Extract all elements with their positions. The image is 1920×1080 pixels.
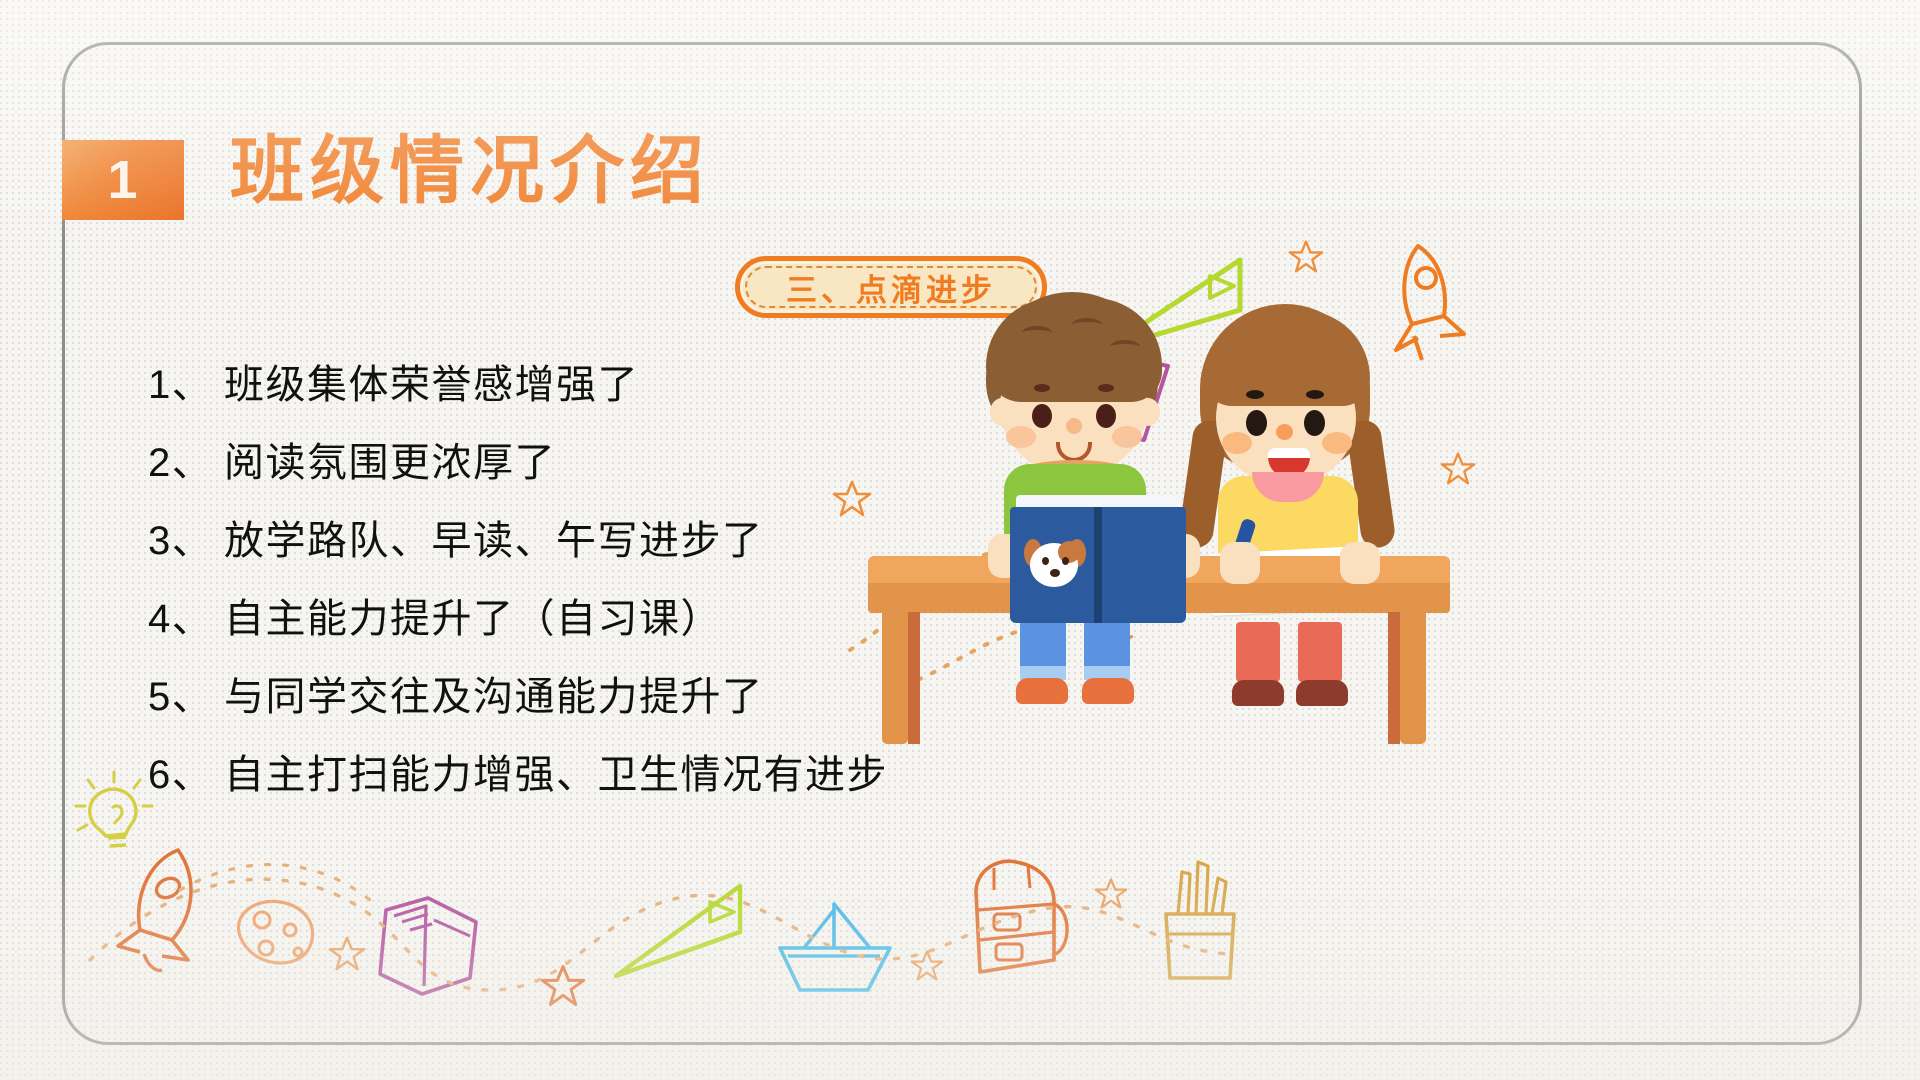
- section-number-badge: 1: [62, 140, 184, 220]
- dog-sticker-eye-right: [1062, 557, 1069, 565]
- star-doodle-icon: [328, 934, 366, 972]
- girl-nose: [1276, 424, 1293, 440]
- children-studying-illustration: [840, 250, 1500, 810]
- pencil-case-doodle-icon: [1140, 852, 1260, 992]
- list-item-text: 放学路队、早读、午写进步了: [224, 508, 764, 566]
- list-item-index: 6、: [148, 742, 224, 800]
- rocket-doodle-icon: [106, 840, 226, 980]
- list-item: 5、 与同学交往及沟通能力提升了: [148, 664, 948, 742]
- list-item-index: 5、: [148, 664, 224, 722]
- girl-eye-right: [1304, 410, 1325, 436]
- backpack-doodle-icon: [950, 848, 1080, 988]
- boy-nose: [1066, 418, 1082, 434]
- dashed-path-doodle-icon: [70, 830, 1860, 1020]
- book-spine: [1094, 507, 1102, 623]
- page-title: 班级情况介绍: [230, 130, 710, 211]
- list-item-text: 与同学交往及沟通能力提升了: [224, 664, 764, 722]
- dog-sticker-eye-left: [1042, 557, 1049, 565]
- list-item: 2、 阅读氛围更浓厚了: [148, 430, 948, 508]
- girl-eyebrow-right: [1306, 390, 1324, 399]
- paper-boat-doodle-icon: [770, 898, 900, 1008]
- desk-leg-left: [882, 612, 908, 744]
- boy-eyebrow-right: [1098, 384, 1114, 392]
- boy-eye-left: [1032, 404, 1052, 428]
- list-item: 4、 自主能力提升了（自习课）: [148, 586, 948, 664]
- boy-cheek-left: [1006, 426, 1036, 448]
- list-item-index: 2、: [148, 430, 224, 488]
- list-item: 3、 放学路队、早读、午写进步了: [148, 508, 948, 586]
- girl-cheek-right: [1322, 432, 1352, 454]
- desk-leg-shadow-left: [908, 612, 920, 744]
- bullet-list: 1、 班级集体荣誉感增强了 2、 阅读氛围更浓厚了 3、 放学路队、早读、午写进…: [148, 352, 948, 820]
- list-item-index: 3、: [148, 508, 224, 566]
- boy-legs: [1020, 610, 1130, 702]
- blue-storybook: [1010, 495, 1186, 623]
- list-item-text: 自主能力提升了（自习课）: [224, 586, 722, 644]
- list-item-text: 班级集体荣誉感增强了: [224, 352, 639, 410]
- girl-cheek-left: [1222, 432, 1252, 454]
- desk-leg-shadow-right: [1388, 612, 1400, 744]
- list-item: 6、 自主打扫能力增强、卫生情况有进步: [148, 742, 948, 820]
- lightbulb-doodle-icon: [70, 768, 160, 868]
- girl-eyebrow-left: [1246, 390, 1264, 399]
- triangle-ruler-icon: [600, 868, 750, 988]
- star-doodle-icon: [910, 948, 944, 982]
- dog-sticker-nose: [1050, 569, 1060, 577]
- desk-leg-right: [1400, 612, 1426, 744]
- star-doodle-icon: [1094, 876, 1128, 910]
- star-doodle-icon: [540, 962, 586, 1008]
- list-item: 1、 班级集体荣誉感增强了: [148, 352, 948, 430]
- list-item-index: 4、: [148, 586, 224, 644]
- girl-hair-front: [1204, 310, 1370, 406]
- star-doodle-icon: [1288, 238, 1324, 274]
- section-number-label: 1: [107, 153, 138, 207]
- boy-cheek-right: [1112, 426, 1142, 448]
- girl-eye-left: [1246, 410, 1267, 436]
- list-item-text: 自主打扫能力增强、卫生情况有进步: [224, 742, 888, 800]
- list-item-index: 1、: [148, 352, 224, 410]
- girl-legs: [1236, 622, 1346, 712]
- girl-hand-left: [1220, 542, 1260, 584]
- bottom-doodle-decoration: [70, 830, 1860, 1020]
- star-doodle-icon: [1440, 450, 1476, 486]
- boy-eye-right: [1096, 404, 1116, 428]
- planet-doodle-icon: [222, 888, 332, 978]
- girl-hand-right: [1340, 542, 1380, 584]
- list-item-text: 阅读氛围更浓厚了: [224, 430, 556, 488]
- books-doodle-icon: [366, 882, 496, 1007]
- boy-eyebrow-left: [1034, 384, 1050, 392]
